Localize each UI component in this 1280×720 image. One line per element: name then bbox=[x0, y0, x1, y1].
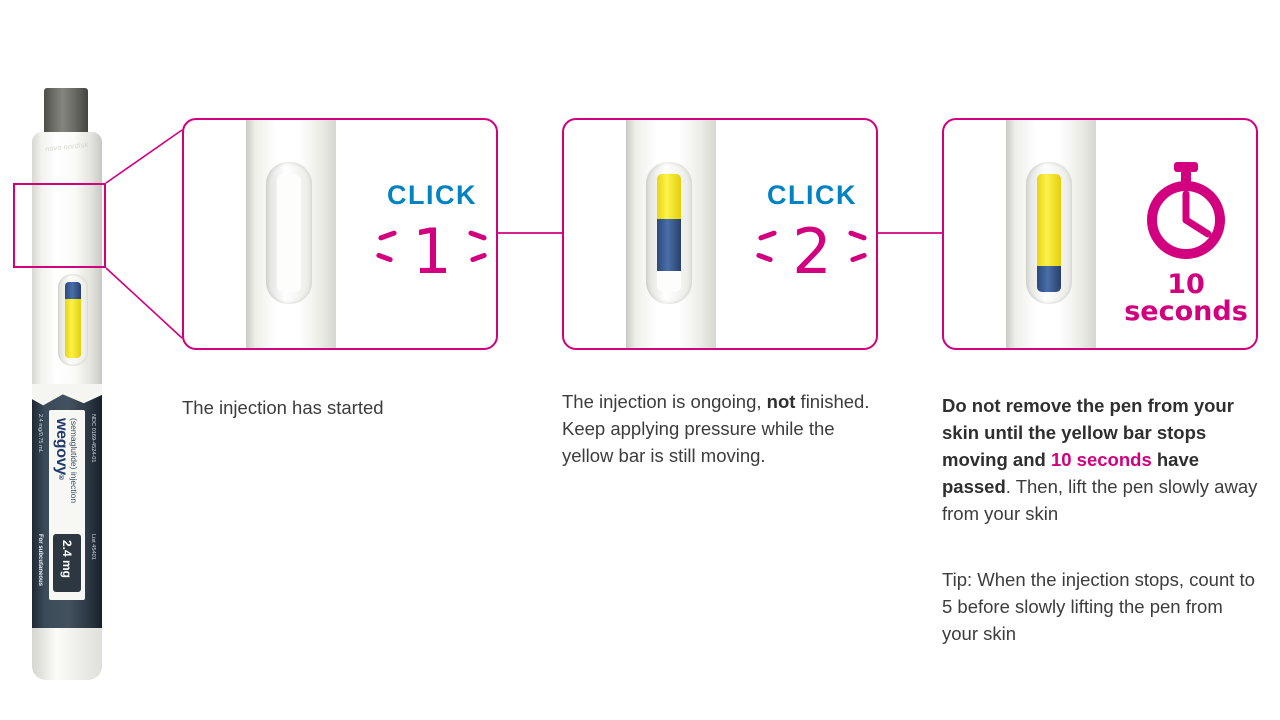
click-1-number-row: 1 bbox=[372, 219, 492, 291]
pen-label-brand: wegovy® bbox=[52, 418, 70, 482]
panel-click-2: CLICK 2 bbox=[562, 118, 878, 350]
pen-dose-window-bar bbox=[65, 282, 81, 358]
caption-panel-3: Do not remove the pen from your skin unt… bbox=[942, 392, 1262, 527]
click-1-word: CLICK bbox=[372, 182, 492, 209]
caption-panel-3-tip: Tip: When the injection stops, count to … bbox=[942, 566, 1262, 647]
pen-label-strength: 2.4 mg/0.75 mL bbox=[37, 414, 43, 453]
instruction-diagram: novo nordisk NDC 0169-4524-01 2.4 mg/0.7… bbox=[0, 0, 1280, 720]
stopwatch-value: 10 bbox=[1120, 271, 1252, 298]
panel-3-window bbox=[1026, 162, 1072, 304]
panel-2-window-bar bbox=[657, 174, 681, 292]
caption-2-part-1: The injection is ongoing, bbox=[562, 391, 767, 412]
pen-label-ndc: NDC 0169-4524-01 bbox=[90, 414, 96, 463]
pen-cap bbox=[44, 88, 88, 136]
panel-1-window-bar bbox=[277, 174, 301, 292]
pen-label-dose-box: 2.4 mg bbox=[53, 534, 81, 592]
panel-1-pen-closeup bbox=[246, 118, 336, 350]
pen-label-route: For subcutaneous bbox=[37, 534, 43, 586]
stopwatch-graphic: 10 seconds bbox=[1120, 160, 1252, 325]
pen-label-dose: 2.4 mg bbox=[60, 540, 74, 578]
click-1-number: 1 bbox=[412, 215, 451, 288]
stopwatch-unit: seconds bbox=[1120, 298, 1252, 325]
pen-dose-window bbox=[58, 274, 88, 366]
stopwatch-icon bbox=[1132, 160, 1240, 262]
panel-3-pen-closeup bbox=[1006, 118, 1096, 350]
panel-2-window bbox=[646, 162, 692, 304]
click-2-number: 2 bbox=[792, 215, 831, 288]
caption-2-part-2: not bbox=[767, 391, 796, 412]
pen-window-highlight-box bbox=[13, 183, 106, 268]
panel-2-pen-closeup bbox=[626, 118, 716, 350]
click-1-graphic: CLICK 1 bbox=[372, 182, 492, 291]
pen-label-list: List 45401 bbox=[90, 534, 96, 560]
click-2-graphic: CLICK 2 bbox=[752, 182, 872, 291]
panel-3-window-bar bbox=[1037, 174, 1061, 292]
novo-nordisk-logo: novo nordisk bbox=[39, 140, 98, 176]
pen-base bbox=[32, 628, 102, 680]
panel-click-1: CLICK 1 bbox=[182, 118, 498, 350]
wegovy-pen-illustration: novo nordisk NDC 0169-4524-01 2.4 mg/0.7… bbox=[18, 88, 112, 593]
click-2-word: CLICK bbox=[752, 182, 872, 209]
click-2-number-row: 2 bbox=[752, 219, 872, 291]
caption-3-part-2: 10 seconds bbox=[1051, 449, 1152, 470]
caption-panel-1: The injection has started bbox=[182, 394, 512, 421]
panel-stopwatch: 10 seconds bbox=[942, 118, 1258, 350]
panel-1-window bbox=[266, 162, 312, 304]
pen-label: NDC 0169-4524-01 2.4 mg/0.75 mL List 454… bbox=[32, 384, 102, 628]
pen-label-generic: (semaglutide) injection bbox=[69, 418, 79, 503]
caption-panel-2: The injection is ongoing, not finished. … bbox=[562, 388, 888, 469]
